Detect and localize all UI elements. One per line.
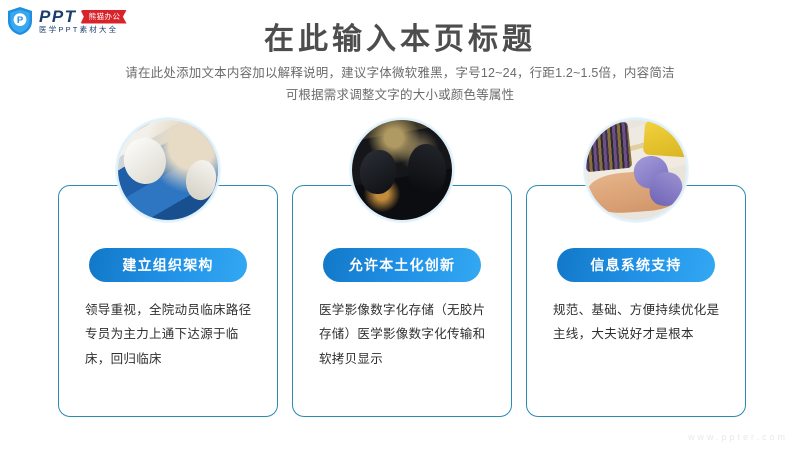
card-row: 建立组织架构 领导重视，全院动员临床路径专员为主力上通下达源于临床，回归临床 允…: [58, 185, 746, 417]
card-badge-3[interactable]: 信息系统支持: [557, 248, 715, 282]
card-body-3: 规范、基础、方便持续优化是主线，大夫说好才是根本: [553, 298, 723, 347]
photo-operating-room-image: [352, 120, 452, 220]
page-subtitle: 请在此处添加文本内容加以解释说明，建议字体微软雅黑，字号12~24，行距1.2~…: [90, 63, 710, 107]
card-badge-1[interactable]: 建立组织架构: [89, 248, 247, 282]
card-photo-3: [584, 118, 688, 222]
info-card-1[interactable]: 建立组织架构 领导重视，全院动员临床路径专员为主力上通下达源于临床，回归临床: [58, 185, 278, 417]
site-watermark: www.ppter.com: [688, 432, 788, 442]
slide-canvas: P PPT 熊猫办公 医学PPT素材大全 在此输入本页标题 请在此处添加文本内容…: [0, 0, 800, 450]
card-photo-2: [350, 118, 454, 222]
card-badge-2[interactable]: 允许本土化创新: [323, 248, 481, 282]
photo-blood-draw-image: [586, 120, 686, 220]
info-card-2[interactable]: 允许本土化创新 医学影像数字化存储（无胶片存储）医学影像数字化传输和软拷贝显示: [292, 185, 512, 417]
info-card-3[interactable]: 信息系统支持 规范、基础、方便持续优化是主线，大夫说好才是根本: [526, 185, 746, 417]
page-title: 在此输入本页标题: [0, 14, 800, 58]
subtitle-line-1: 请在此处添加文本内容加以解释说明，建议字体微软雅黑，字号12~24，行距1.2~…: [90, 63, 710, 85]
card-body-1: 领导重视，全院动员临床路径专员为主力上通下达源于临床，回归临床: [85, 298, 255, 371]
card-photo-1: [116, 118, 220, 222]
photo-surgical-gown-image: [118, 120, 218, 220]
card-body-2: 医学影像数字化存储（无胶片存储）医学影像数字化传输和软拷贝显示: [319, 298, 489, 371]
subtitle-line-2: 可根据需求调整文字的大小或颜色等属性: [90, 85, 710, 107]
